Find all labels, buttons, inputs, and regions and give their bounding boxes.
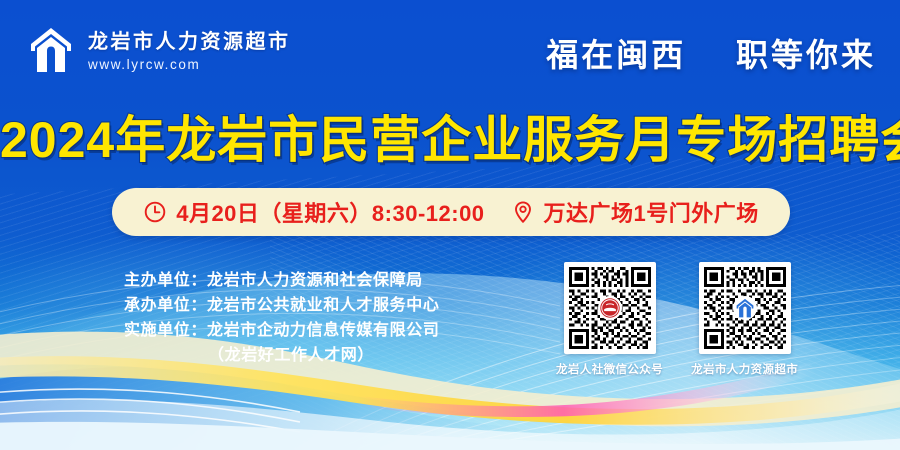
event-datetime: 4月20日（星期六）8:30-12:00	[143, 196, 484, 228]
organizer-row: 主办单位：龙岩市人力资源和社会保障局	[124, 268, 439, 293]
slogan-left: 福在闽西	[546, 37, 686, 73]
recruitment-banner: 龙岩市人力资源超市 www.lyrcw.com 福在闽西 职等你来 2024年龙…	[0, 0, 900, 450]
brand-name: 龙岩市人力资源超市	[88, 30, 291, 54]
qr-code-hr-supermarket[interactable]	[699, 262, 791, 354]
qr-center-badge	[733, 296, 757, 320]
qr-caption: 龙岩人社微信公众号	[556, 361, 663, 377]
red-seal-icon	[599, 297, 621, 319]
organizer-value: 龙岩市人力资源和社会保障局	[207, 272, 423, 289]
organizer-list: 主办单位：龙岩市人力资源和社会保障局 承办单位：龙岩市公共就业和人才服务中心 实…	[124, 268, 439, 368]
qr-code-wechat[interactable]	[564, 262, 656, 354]
house-arch-logo-icon	[735, 298, 755, 319]
organizer-label: 承办单位：	[124, 297, 207, 314]
location-pin-icon	[511, 200, 535, 224]
slogan: 福在闽西 职等你来	[546, 30, 876, 76]
organizer-row: 实施单位：龙岩市企动力信息传媒有限公司	[124, 318, 439, 343]
organizer-value: （龙岩好工作人才网）	[208, 347, 374, 364]
organizer-label: 主办单位：	[124, 272, 207, 289]
brand-logo[interactable]: 龙岩市人力资源超市 www.lyrcw.com	[28, 26, 291, 76]
house-arch-logo-icon	[28, 26, 74, 76]
organizer-value: 龙岩市公共就业和人才服务中心	[207, 297, 439, 314]
organizer-row: （龙岩好工作人才网）	[124, 343, 439, 368]
brand-logo-text: 龙岩市人力资源超市 www.lyrcw.com	[88, 30, 291, 72]
qr-code-group: 龙岩人社微信公众号	[556, 262, 798, 377]
event-info-bar: 4月20日（星期六）8:30-12:00 万达广场1号门外广场	[112, 188, 790, 236]
qr-caption: 龙岩市人力资源超市	[691, 361, 798, 377]
event-datetime-text: 4月20日（星期六）8:30-12:00	[176, 196, 484, 228]
slogan-right: 职等你来	[736, 37, 876, 73]
event-location-text: 万达广场1号门外广场	[544, 196, 759, 228]
organizer-row: 承办单位：龙岩市公共就业和人才服务中心	[124, 293, 439, 318]
event-location: 万达广场1号门外广场	[511, 196, 759, 228]
clock-icon	[143, 200, 167, 224]
organizer-value: 龙岩市企动力信息传媒有限公司	[207, 322, 439, 339]
organizer-label: 实施单位：	[124, 322, 207, 339]
page-title: 2024年龙岩市民营企业服务月专场招聘会	[0, 100, 900, 172]
qr-code-item[interactable]: 龙岩人社微信公众号	[556, 262, 663, 377]
qr-code-item[interactable]: 龙岩市人力资源超市	[691, 262, 798, 377]
qr-center-badge	[598, 296, 622, 320]
brand-website: www.lyrcw.com	[88, 57, 291, 72]
